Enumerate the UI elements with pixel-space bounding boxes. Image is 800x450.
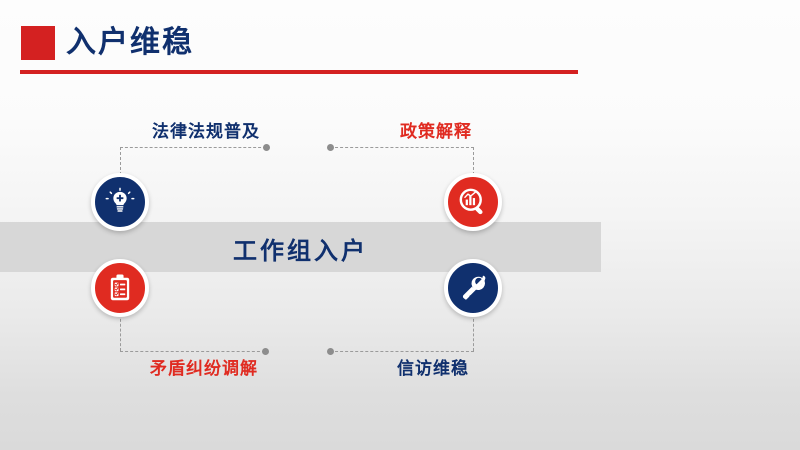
- connector-dot-bottom-left: [262, 348, 269, 355]
- node-label-bottom-left: 矛盾纠纷调解: [150, 354, 258, 379]
- node-label-top-left: 法律法规普及: [152, 117, 260, 142]
- wrench-screwdriver-icon[interactable]: [444, 259, 502, 317]
- connector-dot-top-right: [327, 144, 334, 151]
- connector-bottom-left-horizontal: [120, 351, 265, 352]
- connector-bottom-right-horizontal: [330, 351, 474, 352]
- connector-top-right-horizontal: [330, 147, 474, 148]
- page-title: 入户维稳: [66, 22, 194, 64]
- lightbulb-plus-icon[interactable]: [91, 173, 149, 231]
- connector-bottom-left-vertical: [120, 314, 121, 351]
- slide-canvas: 入户维稳 工作组入户: [0, 0, 800, 450]
- clipboard-checklist-icon[interactable]: [91, 259, 149, 317]
- node-label-top-right: 政策解释: [400, 117, 472, 142]
- connector-bottom-right-vertical: [473, 314, 474, 351]
- connector-dot-bottom-right: [327, 348, 334, 355]
- title-marker-square: [21, 26, 55, 60]
- magnifier-chart-icon[interactable]: [444, 173, 502, 231]
- slide-header: 入户维稳: [0, 0, 800, 80]
- center-label: 工作组入户: [0, 231, 601, 266]
- title-divider-rule: [20, 70, 578, 74]
- connector-top-left-horizontal: [120, 147, 266, 148]
- connector-dot-top-left: [263, 144, 270, 151]
- node-label-bottom-right: 信访维稳: [397, 354, 469, 379]
